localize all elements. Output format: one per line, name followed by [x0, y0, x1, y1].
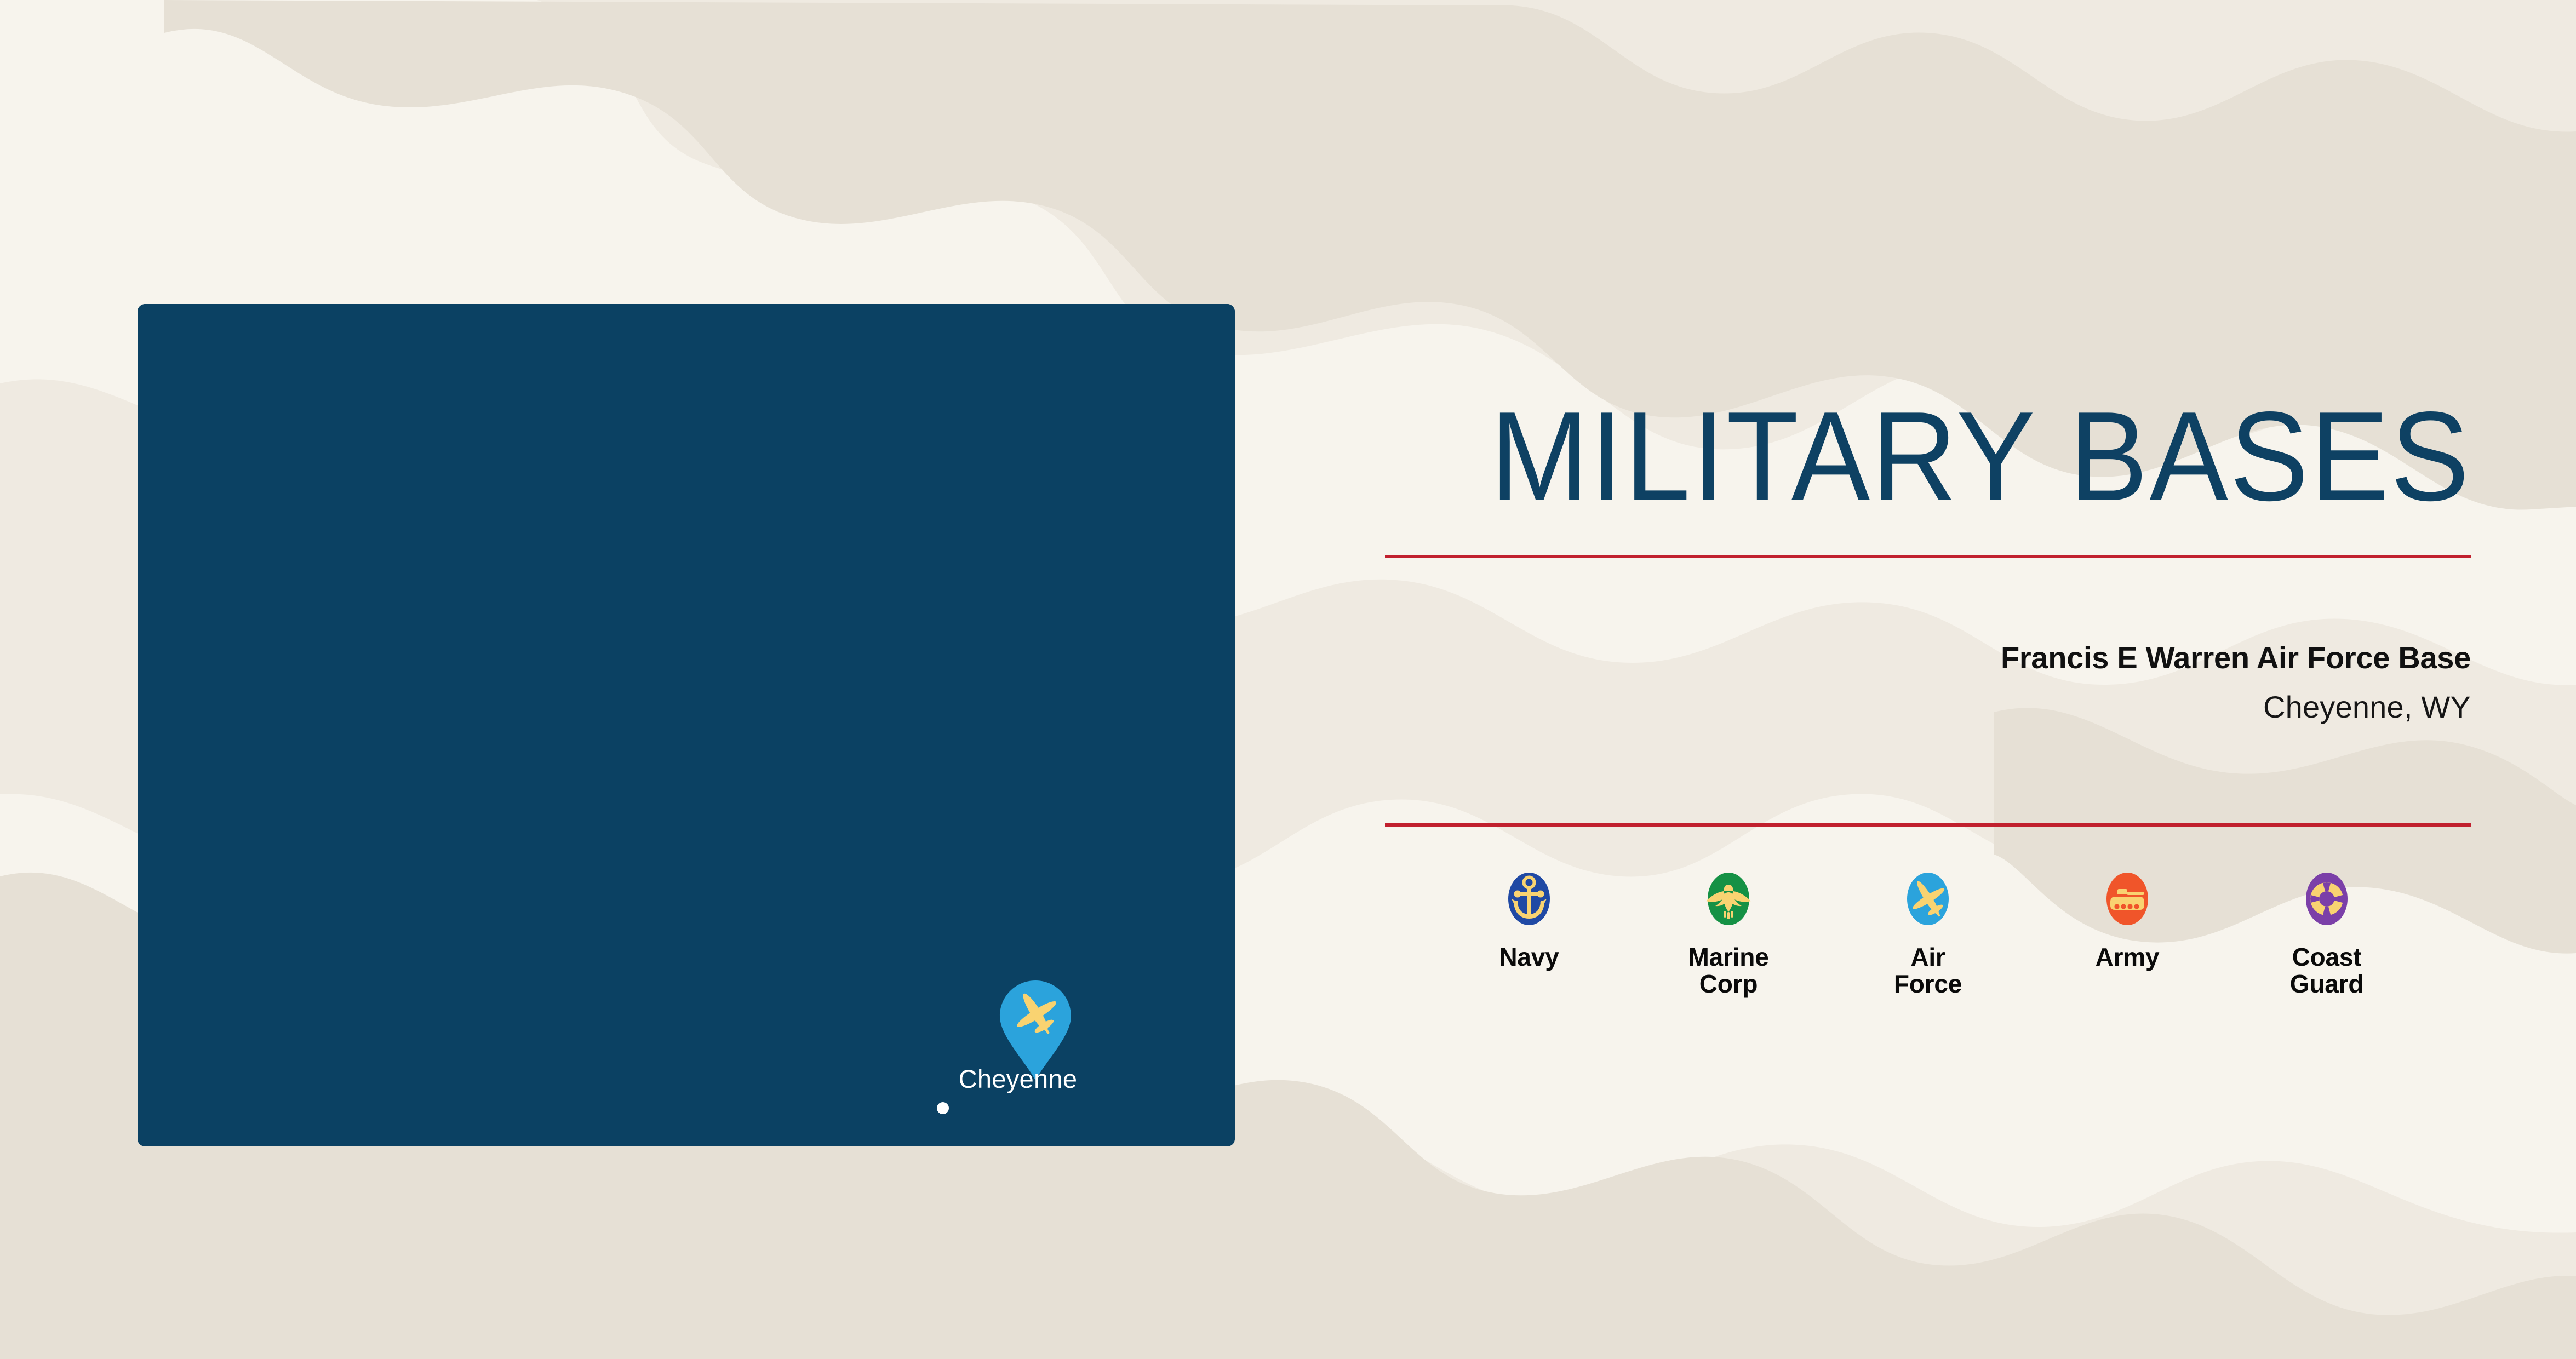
map-pin-label: Cheyenne	[930, 1064, 1106, 1094]
right-content-column: MILITARY BASES Francis E Warren Air Forc…	[1385, 0, 2471, 1359]
branch-label-army: Army	[2096, 944, 2160, 971]
branch-label-air-force: Air Force	[1894, 944, 1962, 997]
branch-air-force[interactable]: Air Force	[1876, 868, 1980, 997]
airplane-icon	[1902, 868, 1954, 930]
branch-army[interactable]: Army	[2075, 868, 2179, 971]
branch-label-coast-guard: Coast Guard	[2290, 944, 2363, 997]
divider-top	[1385, 555, 2471, 558]
anchor-icon	[1503, 868, 1555, 930]
branch-label-marine-corp: Marine Corp	[1688, 944, 1768, 997]
page-title: MILITARY BASES	[1461, 393, 2471, 520]
branch-navy[interactable]: Navy	[1477, 868, 1581, 971]
branch-coast-guard[interactable]: Coast Guard	[2275, 868, 2379, 997]
base-name: Francis E Warren Air Force Base	[1385, 640, 2471, 675]
tank-icon	[2102, 868, 2153, 930]
life-ring-icon	[2301, 868, 2352, 930]
city-dot-cheyenne	[937, 1102, 949, 1114]
divider-bottom	[1385, 823, 2471, 827]
branch-label-navy: Navy	[1499, 944, 1559, 971]
branch-icon-row: Navy Marine Corp	[1385, 868, 2471, 997]
eagle-icon	[1703, 868, 1754, 930]
base-city-state: Cheyenne, WY	[1385, 689, 2471, 725]
branch-marine-corp[interactable]: Marine Corp	[1676, 868, 1781, 997]
